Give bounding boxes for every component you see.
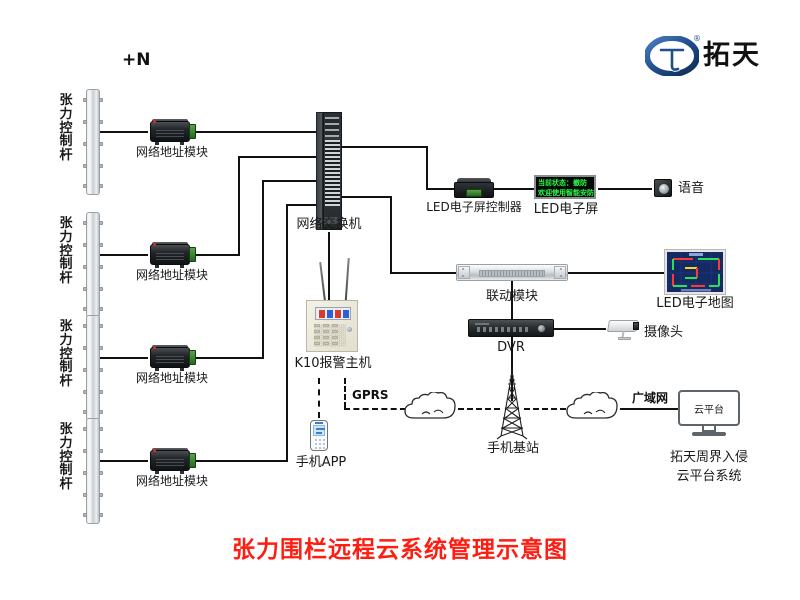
network-switch-label: 网络交换机: [289, 218, 369, 233]
network-address-module-1-label: 网络地址模块: [126, 146, 218, 160]
wire-switch-linkage-b: [390, 196, 392, 274]
wire-pole2-module2: [100, 254, 148, 256]
network-address-module-2: [148, 242, 196, 267]
k10-alarm-host: [306, 300, 358, 352]
cloud-right-icon: [566, 392, 624, 428]
wire-k10-gprs-v: [344, 378, 346, 408]
diagram-canvas: ® 拓天 +N 张力控制杆 张力控制杆 张力控制杆 张力控制杆: [0, 0, 800, 600]
wire-pole4-module4: [100, 460, 148, 462]
network-switch: [316, 112, 342, 230]
led-map-display: [667, 252, 723, 292]
wire-switch-ledctl-a: [342, 146, 428, 148]
led-screen: 当前状态：撤防 欢迎使用智能安防: [534, 175, 596, 199]
tension-pole-2: [86, 212, 100, 318]
wire-switch-ledctl-b: [426, 146, 428, 190]
camera-device: [606, 318, 646, 342]
wire-k10-phone: [318, 378, 320, 418]
tension-pole-1: [86, 89, 100, 195]
voice-label: 语音: [678, 182, 718, 197]
tension-pole-4-label: 张力控制杆: [59, 423, 73, 492]
cloud-platform-screen-label: 云平台: [680, 392, 738, 424]
cloud-platform-caption-line2: 云平台系统: [654, 470, 764, 485]
wire-ledctl-ledscreen: [494, 188, 534, 190]
speaker-icon: [654, 179, 672, 197]
tension-pole-3: [86, 315, 100, 421]
camera-label: 摄像头: [644, 326, 694, 341]
led-electronic-map: [664, 249, 726, 295]
network-address-module-3-label: 网络地址模块: [126, 372, 218, 386]
wire-riser3-switch: [262, 180, 316, 182]
led-screen-label: LED电子屏: [530, 203, 602, 218]
mobile-app-label: 手机APP: [292, 456, 350, 471]
wire-switch-linkage-c: [390, 272, 456, 274]
wire-pole1-module1: [100, 131, 148, 133]
network-address-module-3: [148, 345, 196, 370]
wire-riser-3: [262, 180, 264, 359]
k10-alarm-host-label: K10报警主机: [290, 357, 376, 372]
wire-riser4-switch: [286, 204, 316, 206]
led-screen-controller: [454, 178, 494, 198]
registered-mark: ®: [693, 34, 701, 43]
plus-n-label: +N: [122, 50, 150, 70]
wire-linkage-ledmap: [568, 272, 664, 274]
wire-module3-riser: [196, 357, 262, 359]
brand-name: 拓天: [703, 40, 761, 72]
mobile-phone-app: [310, 420, 328, 451]
tension-pole-2-label: 张力控制杆: [59, 217, 73, 286]
wire-switch-k10: [328, 232, 330, 300]
wire-switch-linkage-a: [342, 196, 392, 198]
gprs-label: GPRS: [352, 388, 389, 402]
dvr-device: [468, 319, 554, 337]
tension-pole-3-label: 张力控制杆: [59, 320, 73, 389]
wire-module1-switch: [196, 131, 316, 133]
wire-riser2-switch: [238, 156, 316, 158]
tuotian-logo-icon: [645, 36, 699, 76]
network-address-module-4: [148, 448, 196, 473]
wire-pole3-module3: [100, 357, 148, 359]
wan-label: 广域网: [632, 389, 668, 406]
wire-wan-monitor: [620, 408, 678, 410]
wire-linkage-dvr: [511, 281, 513, 319]
brand-logo: ® 拓天: [645, 36, 795, 80]
wire-riser-2: [238, 156, 240, 256]
wire-module2-riser: [196, 254, 238, 256]
wire-module4-riser: [196, 460, 286, 462]
tension-pole-1-label: 张力控制杆: [59, 94, 73, 163]
wire-gprs-cloud: [344, 408, 406, 410]
wire-switch-ledctl-c: [426, 188, 454, 190]
diagram-title: 张力围栏远程云系统管理示意图: [0, 530, 800, 564]
mobile-base-station: [489, 368, 535, 440]
cloud-platform-caption-line1: 拓天周界入侵: [654, 451, 764, 466]
wire-dvr-camera: [554, 328, 606, 330]
wire-ledscreen-voice: [598, 188, 652, 190]
cloud-left-icon: [404, 392, 462, 428]
led-screen-controller-label: LED电子屏控制器: [424, 201, 524, 215]
led-screen-line1: 当前状态：撤防: [538, 178, 592, 188]
led-electronic-map-label: LED电子地图: [650, 297, 740, 312]
led-screen-line2: 欢迎使用智能安防: [538, 188, 592, 198]
wire-riser-4: [286, 204, 288, 462]
network-address-module-1: [148, 119, 196, 144]
network-address-module-4-label: 网络地址模块: [126, 475, 218, 489]
tension-pole-4: [86, 418, 100, 524]
network-address-module-2-label: 网络地址模块: [126, 269, 218, 283]
mobile-base-station-label: 手机基站: [478, 442, 548, 457]
linkage-module: [456, 264, 568, 281]
cloud-platform-monitor: 云平台: [678, 390, 740, 438]
